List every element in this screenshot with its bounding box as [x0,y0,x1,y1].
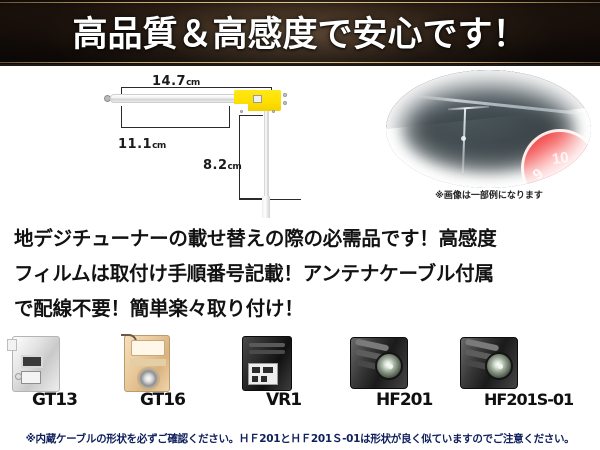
connector-item-gt16: GT16 [116,330,216,425]
connector-item-hf201: HF201 [348,330,448,425]
photo-caption: ※画像は一部例になります [378,188,600,201]
hf201s-coax-nose [485,352,513,380]
hf201s-body [460,337,518,389]
gt16-body [124,335,170,392]
antenna-pin-upper [283,93,287,97]
product-image-page: 高品質＆高感度で安心です！ 14.7cm 11.1cm 8.2cm [0,0,600,450]
dimension-unit-height-tail: cm [228,162,242,172]
gt16-coax-ring [137,367,160,390]
dimension-value-height-tail: 8.2 [203,158,228,173]
dimension-label-height-tail: 8.2cm [203,154,241,173]
connector-label-gt16: GT16 [140,390,240,410]
vr1-pin-1 [252,367,260,373]
description-line-1: 地デジチューナーの載せ替えの際の必需品です！高感度 [14,221,590,256]
antenna-connector-contact [253,95,262,103]
vr1-rib-lower [249,350,285,354]
antenna-pin-lower [283,101,287,105]
footer-note: ※内蔵ケーブルの形状を必ずご確認ください。ＨＦ201とＨＦ201Ｓ-01は形状が… [0,428,600,448]
connector-image-gt16 [116,332,184,394]
dimension-value-width-inner: 11.1 [118,137,152,152]
vr1-rib-upper [249,343,285,347]
dimension-label-width-total: 14.7cm [152,70,200,89]
header-banner: 高品質＆高感度で安心です！ [0,0,600,66]
antenna-pin-left [240,110,243,113]
antenna-pin-right [272,110,275,113]
gt13-screw [15,373,22,380]
antenna-film-tail-end [262,196,270,218]
vr1-contact-pad [248,363,278,385]
antenna-film-tail [264,106,269,206]
gt16-bar [130,359,166,366]
product-description: 地デジチューナーの載せ替えの際の必需品です！高感度 フィルムは取付け手順番号記載… [14,219,590,327]
connector-image-hf201s-01 [458,332,526,394]
hf201-coax-nose [375,352,403,380]
vr1-pin-2 [263,367,273,373]
dimension-value-width-total: 14.7 [152,74,186,89]
vr1-pin-4 [261,376,267,382]
connector-image-gt13 [6,332,74,394]
photo-vignette [386,70,591,188]
connector-type-row: GT13 GT16 [0,330,600,425]
dimension-bracket-width-inner [121,106,230,128]
description-line-2: フィルムは取付け手順番号記載！アンテナケーブル付属 [14,256,590,291]
dimension-unit-width-inner: cm [152,141,166,151]
description-line-3: で配線不要！簡単楽々取り付け！ [14,291,590,326]
gt13-body [12,336,60,392]
connector-label-hf201s-01: HF201S-01 [484,390,584,409]
antenna-diagram: 14.7cm 11.1cm 8.2cm [0,66,370,218]
connector-image-hf201 [348,332,416,394]
banner-rule-bottom [0,62,600,63]
gt16-slot [131,340,165,356]
connector-item-hf201s-01: HF201S-01 [458,330,558,425]
dimension-unit-width-total: cm [186,78,200,88]
dimension-bracket-height-tail [239,115,263,199]
installation-photo: 9 10 ※画像は一部例になります [378,68,600,218]
vr1-pin-3 [252,376,258,382]
hf201-body [350,337,408,389]
dimension-baseline-height-tail [239,199,301,200]
banner-title: 高品質＆高感度で安心です！ [0,7,600,55]
gt13-port-lower [21,371,41,384]
vr1-body [242,336,292,391]
gt13-latch [7,339,17,351]
windshield-photo-oval: 9 10 [386,70,591,188]
connector-item-vr1: VR1 [236,330,336,425]
dimension-label-width-inner: 11.1cm [118,133,166,152]
gt13-port-upper [21,355,43,368]
banner-rule-top [0,2,600,3]
connector-item-gt13: GT13 [6,330,106,425]
connector-image-vr1 [236,332,304,394]
